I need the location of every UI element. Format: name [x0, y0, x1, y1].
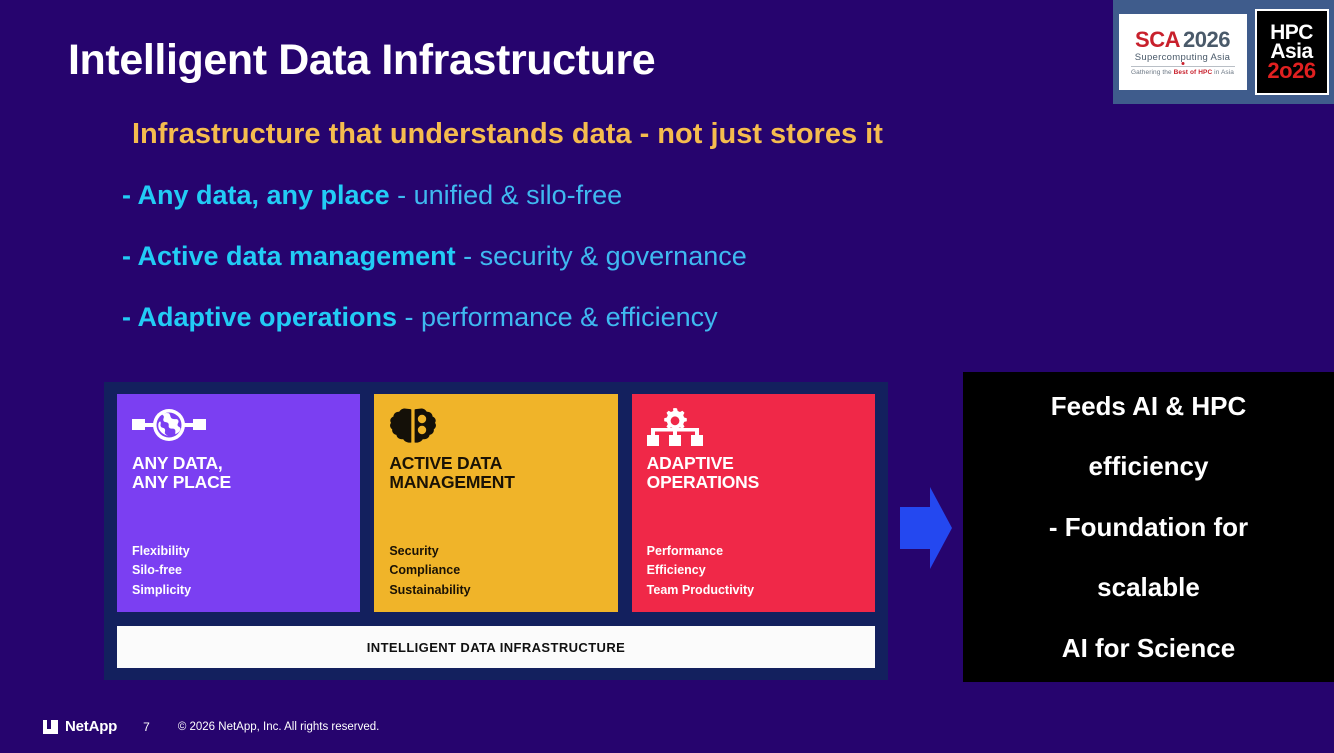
card-1-feature-2: Silo-free — [132, 561, 191, 581]
bullet-3-lead: - Adaptive operations — [122, 302, 397, 332]
card-1-title-line1: ANY DATA, — [132, 454, 345, 473]
bullet-item-1: - Any data, any place - unified & silo-f… — [122, 180, 622, 211]
card-2-feature-2: Compliance — [389, 561, 470, 581]
card-1-title-line2: ANY PLACE — [132, 473, 345, 492]
slide-canvas: SCA 2026 Supercomputing Asia Gathering t… — [0, 0, 1334, 753]
bullet-2-tail: - security & governance — [456, 241, 747, 271]
globe-network-icon — [132, 408, 345, 448]
outcome-line-1: Feeds AI & HPC — [1051, 376, 1247, 437]
card-3-title-line2: OPERATIONS — [647, 473, 860, 492]
slide-footer: NetApp 7 © 2026 NetApp, Inc. All rights … — [43, 718, 379, 735]
bullet-2-lead: - Active data management — [122, 241, 456, 271]
card-adaptive-operations: ADAPTIVE OPERATIONS Performance Efficien… — [632, 394, 875, 612]
netapp-logo-icon — [43, 720, 58, 734]
card-3-feature-2: Efficiency — [647, 561, 754, 581]
diagram-banner-label: INTELLIGENT DATA INFRASTRUCTURE — [367, 640, 625, 655]
card-1-feature-1: Flexibility — [132, 542, 191, 562]
slide-title: Intelligent Data Infrastructure — [68, 36, 655, 85]
card-2-feature-list: Security Compliance Sustainability — [389, 542, 470, 601]
sca-logo-tagline: Gathering the Best of HPC in Asia — [1131, 69, 1234, 76]
outcome-line-4: scalable — [1097, 557, 1200, 618]
card-2-title-line2: MANAGEMENT — [389, 473, 602, 492]
bullet-1-tail: - unified & silo-free — [390, 180, 623, 210]
card-3-feature-list: Performance Efficiency Team Productivity — [647, 542, 754, 601]
bullet-item-2: - Active data management - security & go… — [122, 241, 747, 272]
sca-tagline-pre: Gathering the — [1131, 69, 1174, 76]
diagram-card-row: ANY DATA, ANY PLACE Flexibility Silo-fre… — [117, 394, 875, 612]
sca-logo-mark: SCA — [1135, 29, 1180, 51]
card-2-feature-1: Security — [389, 542, 470, 562]
brain-icon — [389, 408, 602, 448]
sca-2026-logo: SCA 2026 Supercomputing Asia Gathering t… — [1119, 14, 1247, 90]
bullet-3-tail: - performance & efficiency — [397, 302, 718, 332]
slide-subtitle: Infrastructure that understands data - n… — [132, 118, 883, 151]
card-3-title-line1: ADAPTIVE — [647, 454, 860, 473]
diagram-footer-banner: INTELLIGENT DATA INFRASTRUCTURE — [117, 626, 875, 668]
bullet-1-lead: - Any data, any place — [122, 180, 390, 210]
card-3-title: ADAPTIVE OPERATIONS — [647, 454, 860, 491]
card-active-data-management: ACTIVE DATA MANAGEMENT Security Complian… — [374, 394, 617, 612]
hpc-asia-2026-logo: HPC Asia 2o26 — [1255, 9, 1329, 95]
copyright-notice: © 2026 NetApp, Inc. All rights reserved. — [178, 721, 380, 733]
outcome-line-3: - Foundation for — [1049, 497, 1248, 558]
hpc-logo-line3: 2o26 — [1267, 61, 1315, 81]
card-2-title-line1: ACTIVE DATA — [389, 454, 602, 473]
outcome-panel: Feeds AI & HPC efficiency - Foundation f… — [963, 372, 1334, 682]
gear-nodes-icon — [647, 408, 860, 448]
card-2-feature-3: Sustainability — [389, 581, 470, 601]
card-1-title: ANY DATA, ANY PLACE — [132, 454, 345, 491]
slide-page-number: 7 — [143, 720, 150, 734]
hpc-logo-line1: HPC — [1270, 23, 1313, 42]
bullet-item-3: - Adaptive operations - performance & ef… — [122, 302, 718, 333]
right-arrow-icon — [900, 487, 952, 574]
card-2-title: ACTIVE DATA MANAGEMENT — [389, 454, 602, 491]
sca-logo-divider — [1131, 66, 1235, 67]
sca-tagline-bold: Best of HPC — [1174, 69, 1213, 76]
card-3-feature-1: Performance — [647, 542, 754, 562]
sca-logo-wordmark: SCA 2026 — [1135, 29, 1230, 51]
card-1-feature-3: Simplicity — [132, 581, 191, 601]
card-1-feature-list: Flexibility Silo-free Simplicity — [132, 542, 191, 601]
outcome-line-2: efficiency — [1089, 436, 1209, 497]
outcome-line-5: AI for Science — [1062, 618, 1235, 679]
conference-logo-strip: SCA 2026 Supercomputing Asia Gathering t… — [1113, 0, 1334, 104]
netapp-brand-name: NetApp — [65, 718, 117, 735]
sca-logo-year: 2026 — [1183, 29, 1230, 51]
card-any-data-any-place: ANY DATA, ANY PLACE Flexibility Silo-fre… — [117, 394, 360, 612]
sca-tagline-post: in Asia — [1212, 69, 1234, 76]
card-3-feature-3: Team Productivity — [647, 581, 754, 601]
infrastructure-diagram: ANY DATA, ANY PLACE Flexibility Silo-fre… — [104, 382, 888, 680]
